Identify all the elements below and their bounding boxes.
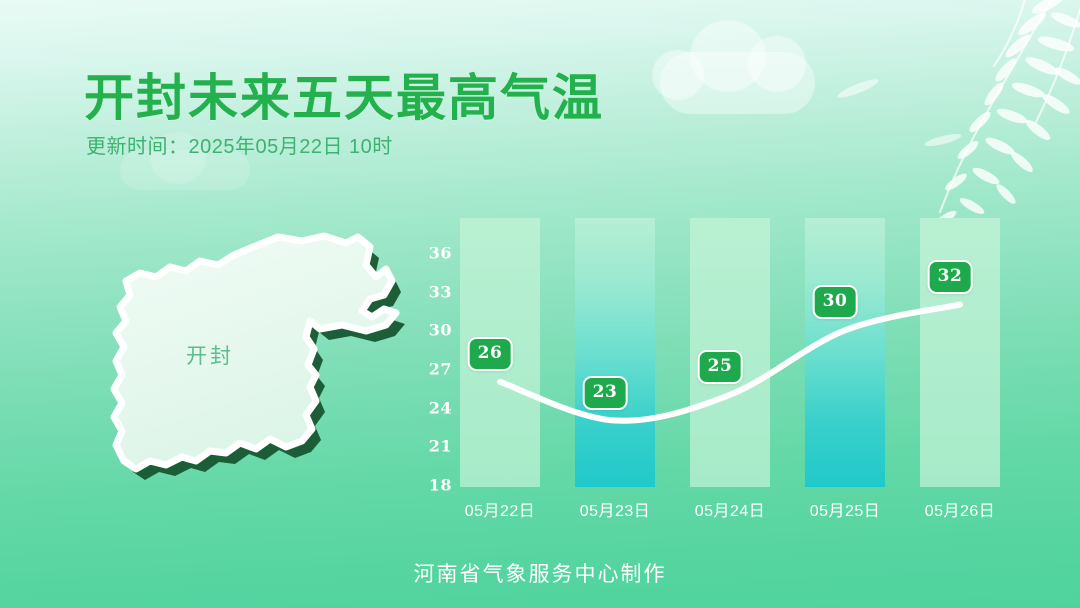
data-label-badge: 26 <box>468 337 513 371</box>
x-axis-label: 05月22日 <box>445 497 555 521</box>
kaifeng-map <box>70 225 430 505</box>
leaf-sparkle-icon-2 <box>924 132 963 149</box>
temperature-chart: 36333027242118 2623253032 05月22日05月23日05… <box>415 210 1025 510</box>
data-label-badge: 30 <box>813 285 858 319</box>
leaf-sparkle-icon <box>836 76 880 101</box>
x-axis-label: 05月24日 <box>675 497 785 521</box>
x-axis-label: 05月23日 <box>560 497 670 521</box>
footer-credit: 河南省气象服务中心制作 <box>0 558 1080 588</box>
x-axis-label: 05月26日 <box>905 497 1015 521</box>
update-time-text: 更新时间：2025年05月22日 10时 <box>86 130 393 159</box>
weather-infographic-poster: 开封未来五天最高气温 更新时间：2025年05月22日 10时 开封 36333… <box>0 0 1080 608</box>
x-axis-label: 05月25日 <box>790 497 900 521</box>
data-label-badge: 25 <box>698 350 743 384</box>
data-label-badge: 32 <box>928 260 973 294</box>
map-region-label: 开封 <box>186 340 234 370</box>
page-title: 开封未来五天最高气温 <box>84 58 604 130</box>
data-label-badge: 23 <box>583 376 628 410</box>
